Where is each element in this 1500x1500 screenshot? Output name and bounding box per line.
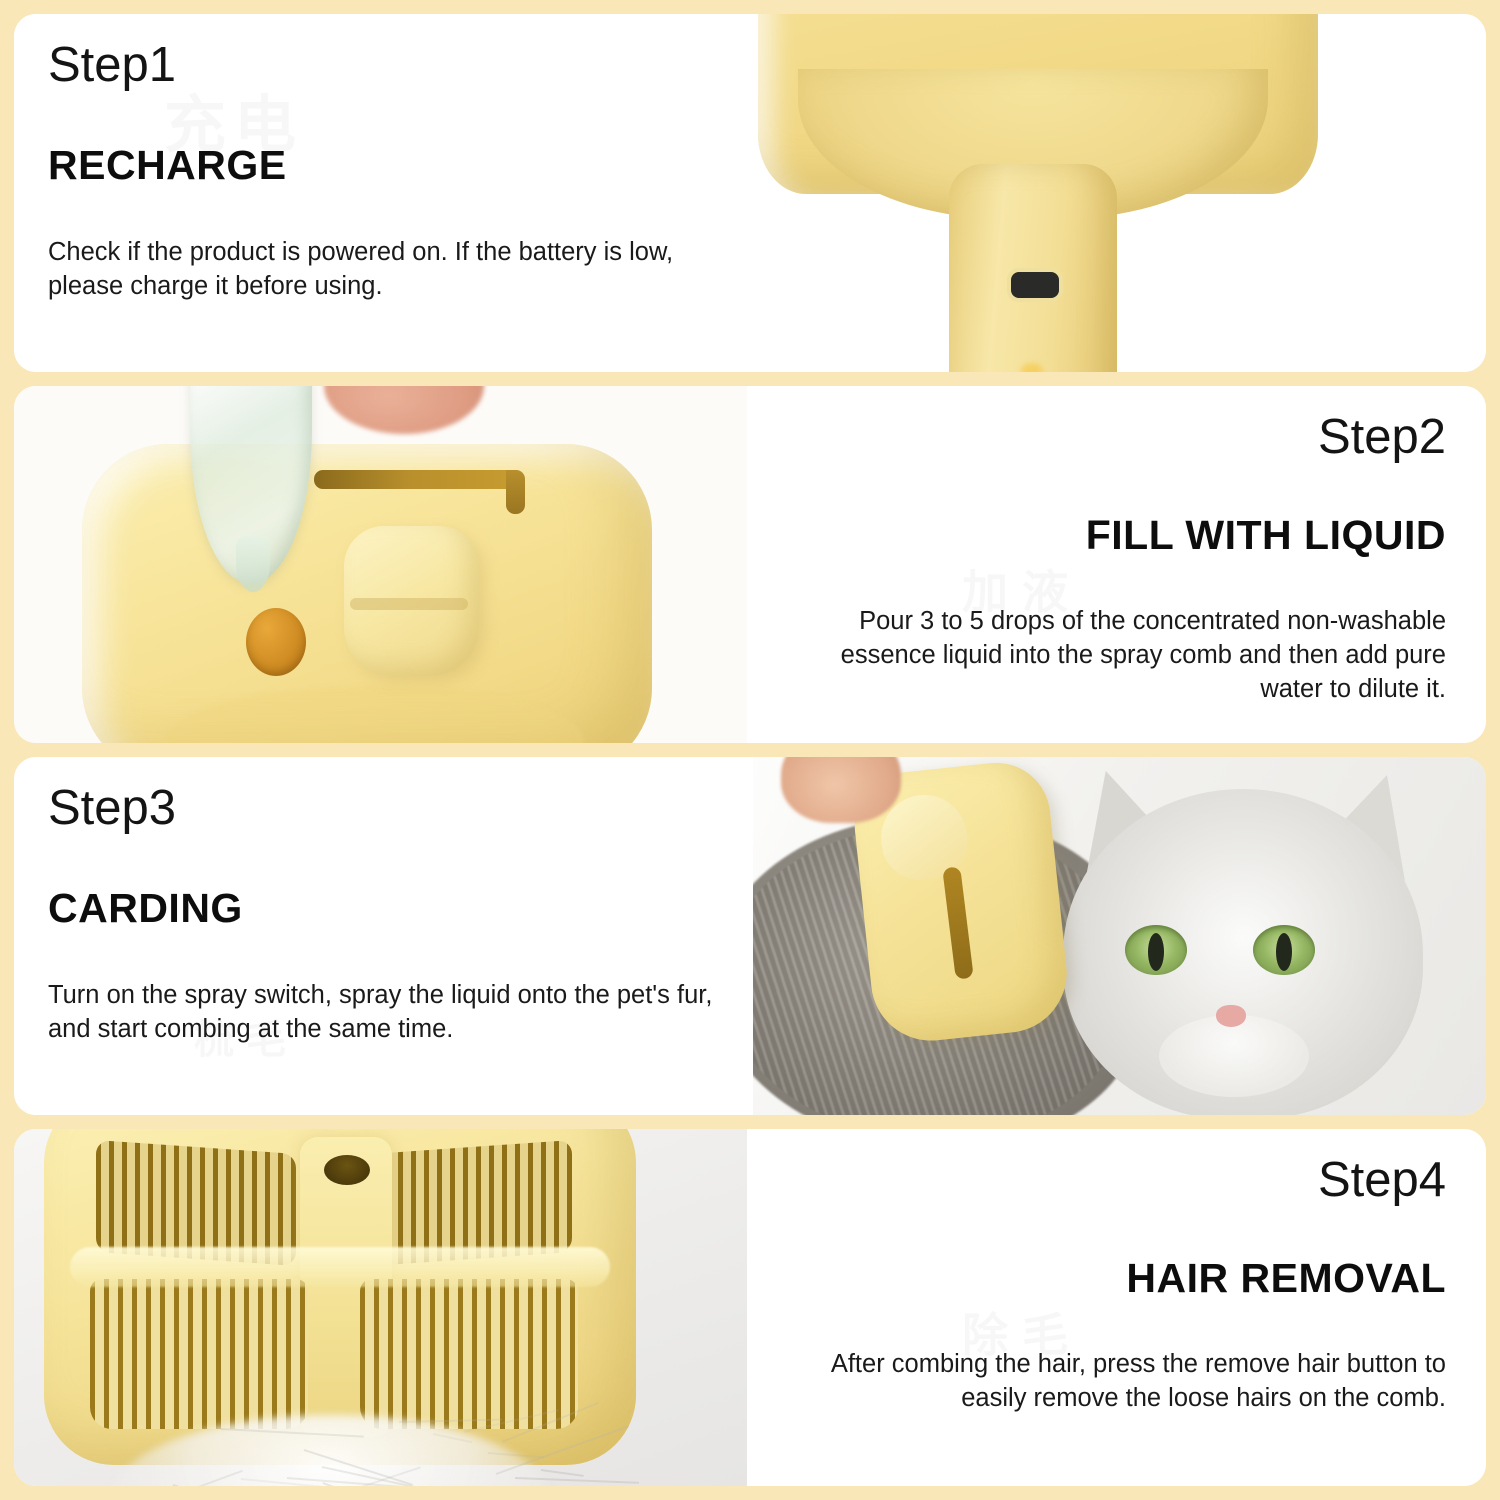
step-1-image	[753, 14, 1486, 372]
liquid-fill-slot	[314, 470, 524, 489]
step-panel-4: 除毛 Step4 HAIR REMOVAL After combing the …	[14, 1129, 1486, 1487]
step-4-text-pane: 除毛 Step4 HAIR REMOVAL After combing the …	[747, 1129, 1486, 1487]
step-panel-3: 梳毛 Step3 CARDING Turn on the spray switc…	[14, 757, 1486, 1115]
usb-charging-port-icon	[1011, 272, 1059, 298]
step-2-heading: FILL WITH LIQUID	[1086, 513, 1446, 558]
cat-muzzle	[1159, 1015, 1309, 1097]
hand-holding-dropper	[324, 386, 484, 434]
comb-mid-rim	[70, 1247, 610, 1287]
step-3-heading: CARDING	[48, 886, 243, 931]
step-1-label: Step1	[48, 40, 176, 91]
instruction-sheet: 充电 Step1 RECHARGE Check if the product i…	[0, 0, 1500, 1500]
step-3-label: Step3	[48, 783, 176, 834]
cat-nose	[1216, 1005, 1246, 1027]
step-panel-2: 加液 Step2 FILL WITH LIQUID Pour 3 to 5 dr…	[14, 386, 1486, 744]
step-4-body: After combing the hair, press the remove…	[781, 1347, 1446, 1415]
step-3-text-pane: 梳毛 Step3 CARDING Turn on the spray switc…	[14, 757, 753, 1115]
step-panel-1: 充电 Step1 RECHARGE Check if the product i…	[14, 14, 1486, 372]
step-3-body: Turn on the spray switch, spray the liqu…	[48, 978, 719, 1046]
bristle-pad-bottom-right	[360, 1279, 578, 1429]
step-4-label: Step4	[1318, 1155, 1446, 1206]
hand-holding-comb	[781, 757, 901, 823]
handle-highlight	[1021, 364, 1043, 372]
step-1-body: Check if the product is powered on. If t…	[48, 235, 719, 303]
step-4-image	[14, 1129, 747, 1487]
spray-nozzle-hole	[324, 1155, 370, 1185]
step-1-text-pane: 充电 Step1 RECHARGE Check if the product i…	[14, 14, 753, 372]
spray-switch-groove	[350, 598, 468, 610]
step-2-body: Pour 3 to 5 drops of the concentrated no…	[781, 604, 1446, 706]
cat-pupil-right	[1276, 933, 1292, 971]
bristle-pad-bottom-left	[90, 1279, 308, 1429]
step-4-heading: HAIR REMOVAL	[1126, 1256, 1446, 1301]
liquid-fill-slot-corner	[506, 470, 525, 514]
comb-handle-shape	[949, 164, 1117, 372]
amber-port-dot	[246, 608, 306, 676]
cat-pupil-left	[1148, 933, 1164, 971]
dropper-tip	[236, 536, 270, 592]
step-2-image	[14, 386, 747, 744]
step-1-heading: RECHARGE	[48, 143, 287, 188]
step-2-text-pane: 加液 Step2 FILL WITH LIQUID Pour 3 to 5 dr…	[747, 386, 1486, 744]
step-2-label: Step2	[1318, 412, 1446, 463]
step-3-image	[753, 757, 1486, 1115]
